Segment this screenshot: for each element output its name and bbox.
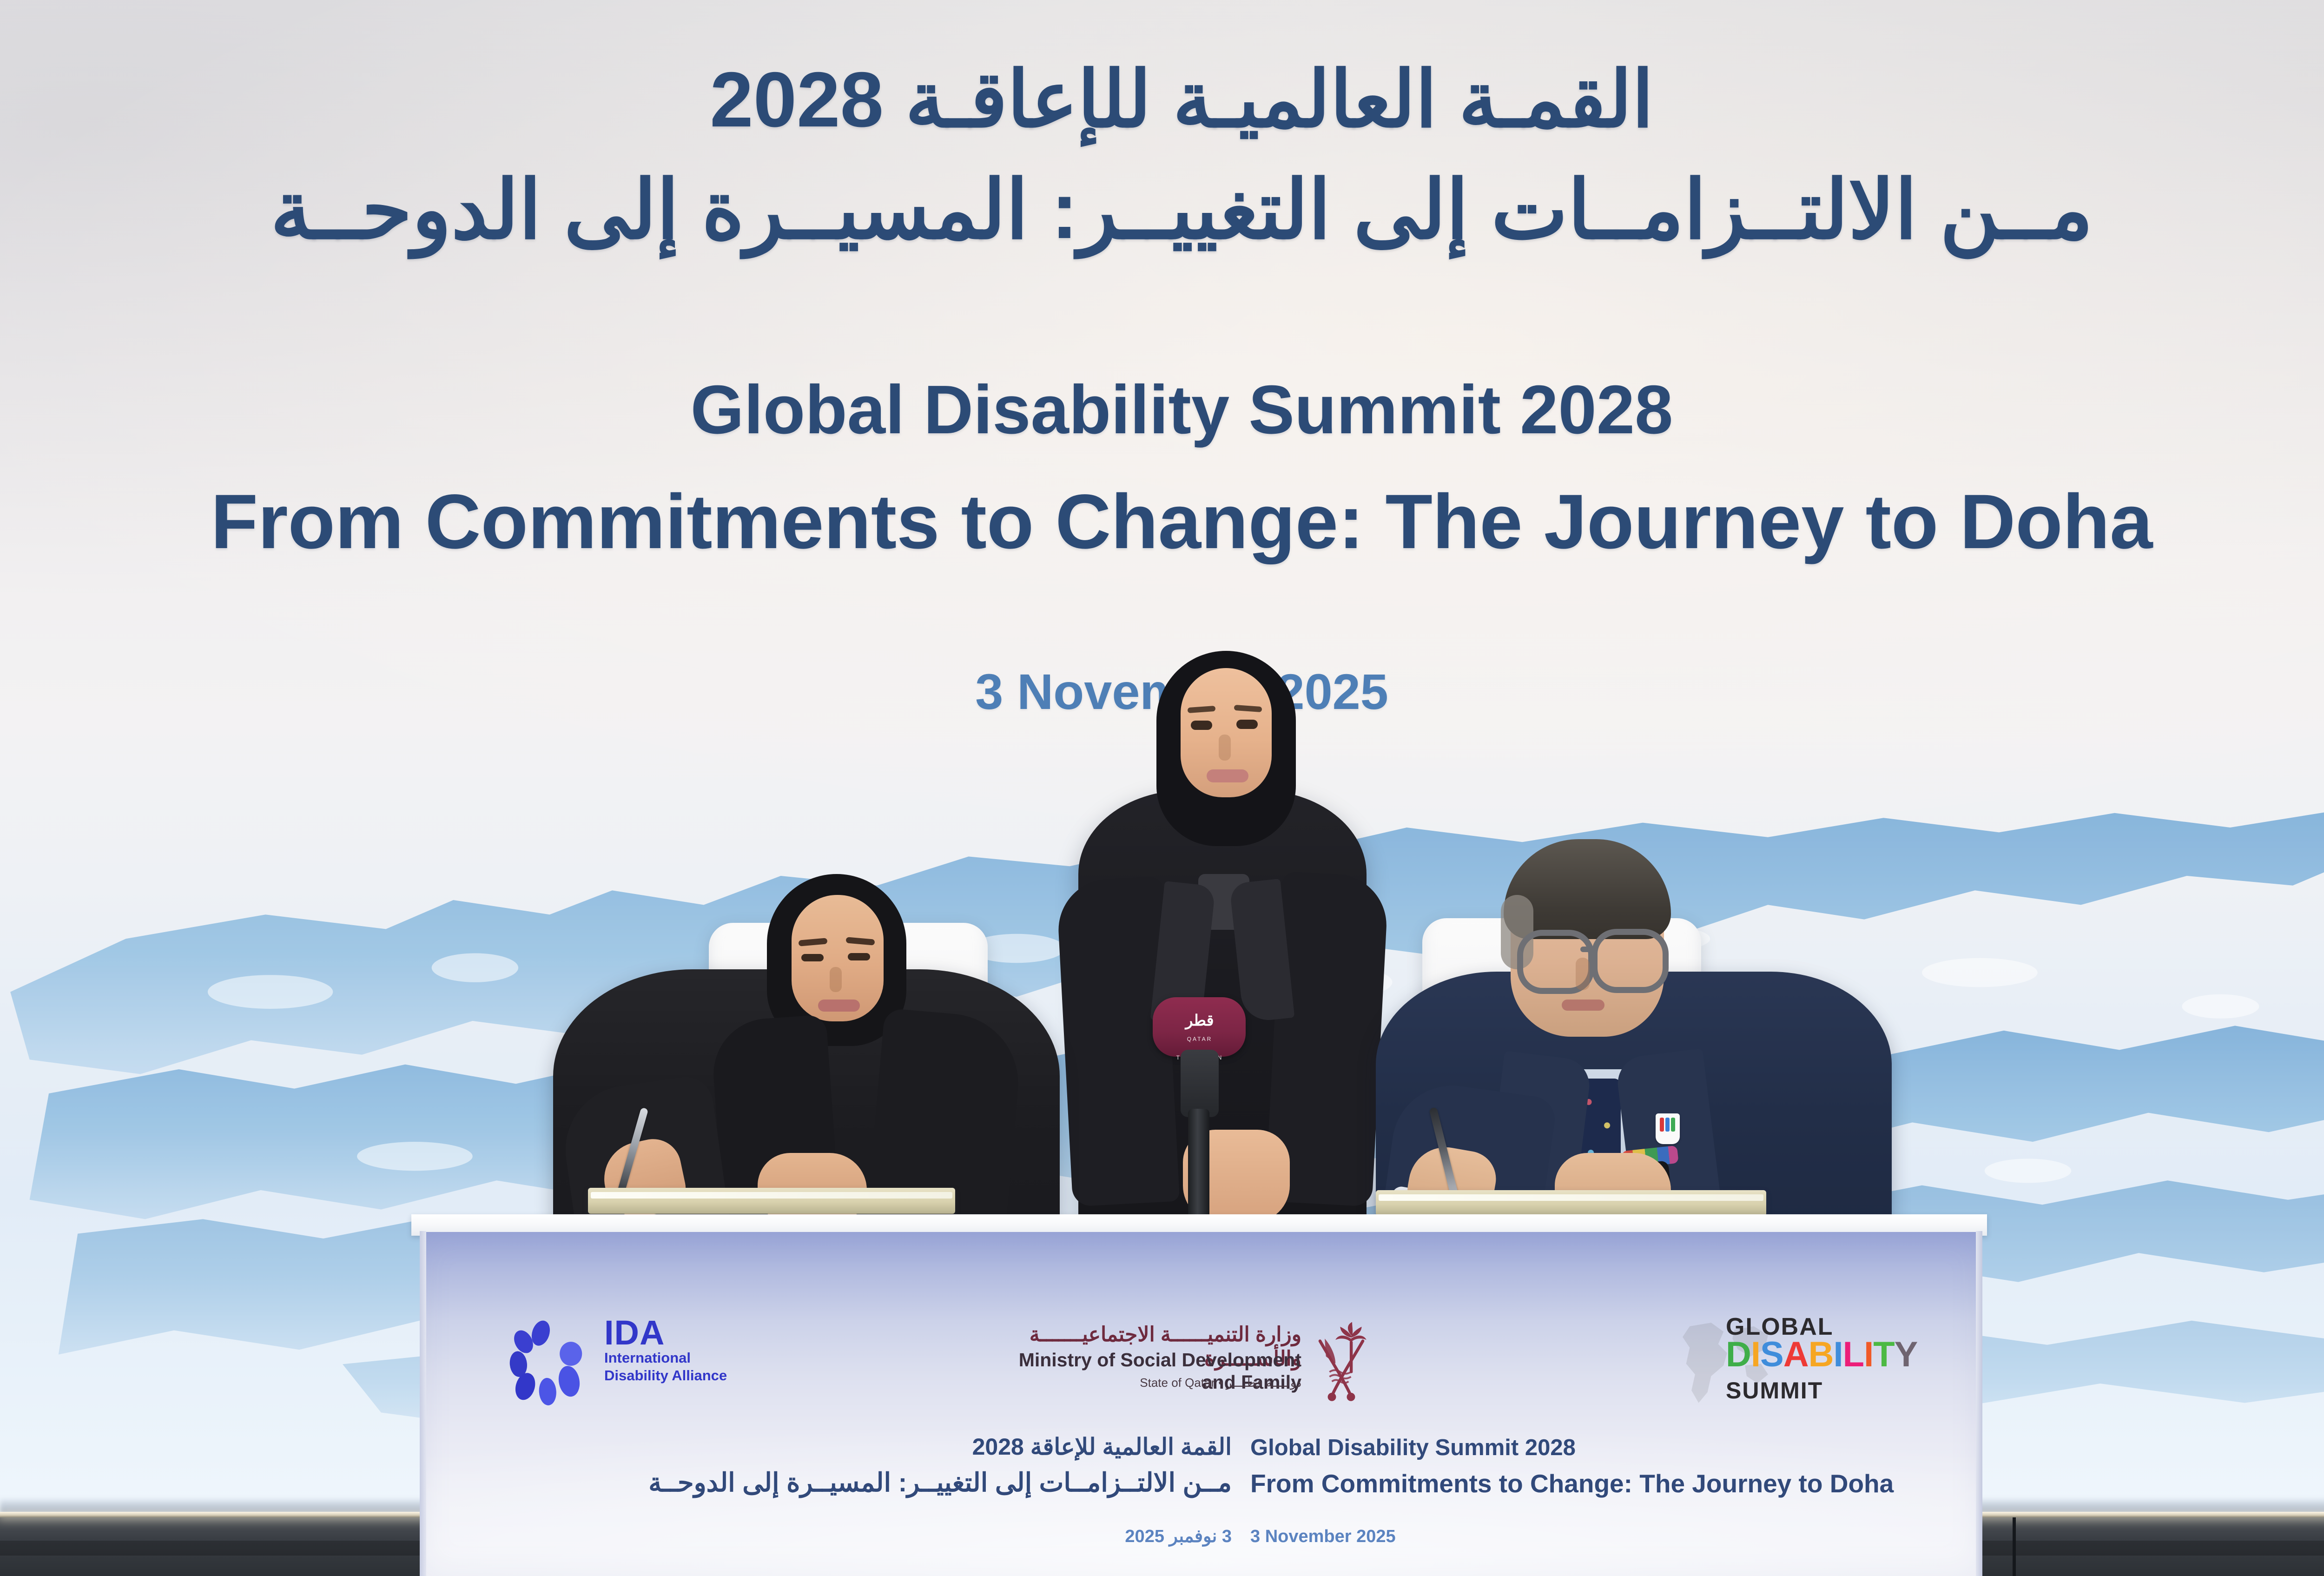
microphone-flag-text: قطر [1185,1012,1214,1029]
table-arabic-date: 3 نوفمبر 2025 [995,1526,1232,1547]
signatory-right-nose [1576,958,1590,990]
ministry-state-line: State of Qatar • دولــــة قطــــر [1004,1375,1301,1391]
gds-letter: S [1760,1335,1783,1374]
gds-letter: Y [1895,1335,1918,1374]
table-edge-left [420,1231,426,1576]
gds-letter: L [1843,1335,1864,1374]
microphone-neck [1181,1050,1219,1117]
signatory-left-eye-right [848,953,870,960]
signatory-left-eye-left [801,954,824,961]
host-lips [1207,769,1248,782]
host-nose [1219,735,1231,761]
ida-line-1: International [604,1349,727,1367]
table-english-title-1: Global Disability Summit 2028 [1250,1434,1948,1462]
signatory-right-lips [1562,1000,1604,1011]
eyeglasses-bridge [1580,947,1594,952]
backdrop-english-title-2: From Commitments to Change: The Journey … [0,483,2324,561]
ida-acronym: IDA [604,1317,727,1349]
ministry-state-separator: • [1218,1376,1222,1390]
table-english-date: 3 November 2025 [1250,1527,1529,1547]
table-edge-right [1976,1231,1982,1576]
logo-ministry-of-social-development-and-family: وزارة التنميــــــة الاجتماعيـــــــة وا… [1004,1323,1371,1411]
ida-petal-flower-icon [509,1319,595,1405]
host-eye-right [1236,720,1258,729]
gds-letter: D [1726,1335,1751,1374]
signing-folder-left [588,1188,955,1214]
signing-folder-right [1376,1190,1766,1216]
ida-logo-text: IDA International Disability Alliance [604,1317,727,1384]
ida-line-2: Disability Alliance [604,1367,727,1384]
gds-letter: T [1873,1335,1894,1374]
table-arabic-title-1: القمة العالمية للإعاقة 2028 [618,1433,1232,1461]
signing-ceremony-photo: القمـة العالميـة للإعاقـة 2028 مــن الال… [0,0,2324,1576]
logo-ida: IDA International Disability Alliance [509,1316,751,1409]
gds-letter: I [1751,1335,1760,1374]
ministry-state-arabic: دولــــة قطــــر [1226,1376,1301,1390]
backdrop-arabic-title-1: القمـة العالميـة للإعاقـة 2028 [0,60,2324,139]
logo-global-disability-summit: GLOBAL DISABILITY SUMMIT [1699,1311,1941,1411]
gds-letter: A [1783,1335,1809,1374]
floor-panel-seam [2013,1517,2016,1576]
gds-letter: I [1864,1335,1873,1374]
gds-letter: I [1834,1335,1843,1374]
ministry-state-english: State of Qatar [1140,1376,1215,1390]
gds-line-bot: SUMMIT [1726,1377,1823,1404]
backdrop-arabic-title-2: مــن الالتــزامــات إلى التغييــر: المسي… [0,170,2324,251]
signatory-left-nose [830,967,842,992]
microphone-flag-label: قطر QATAR TELEVISION [1166,1011,1234,1040]
lapel-pin-icon [1656,1113,1680,1144]
table-arabic-title-2: مــن الالتــزامــات إلى التغييــر: المسي… [483,1467,1232,1498]
qatar-state-emblem-icon [1312,1321,1371,1404]
gds-line-mid: DISABILITY [1726,1335,1917,1374]
signatory-left-lips [818,1000,860,1012]
table-english-title-2: From Commitments to Change: The Journey … [1250,1468,1994,1499]
eyeglasses-lens-right [1591,929,1669,993]
backdrop-english-title-1: Global Disability Summit 2028 [0,376,2324,444]
gds-letter: B [1809,1335,1834,1374]
host-eye-left [1191,721,1212,730]
